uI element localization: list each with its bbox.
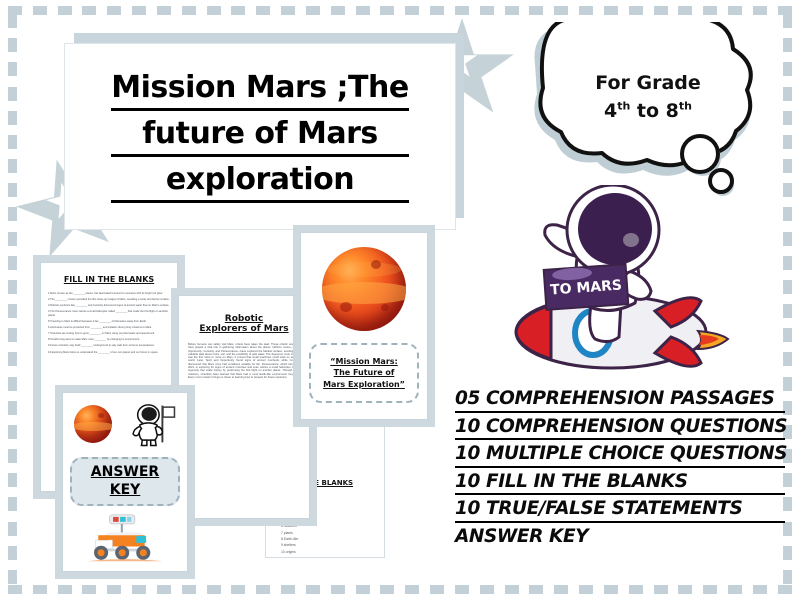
dash-segment bbox=[783, 570, 792, 584]
worksheet-robotic-explorers[interactable]: Robotic Explorers of Mars Before humans … bbox=[178, 295, 310, 519]
astronaut-flag-icon bbox=[130, 401, 176, 447]
dash-segment bbox=[82, 585, 96, 594]
grade-to: to 8 bbox=[630, 100, 679, 122]
worksheet-text-line: 5.Traveling to Mars is difficult because… bbox=[48, 320, 170, 323]
dash-segment bbox=[107, 585, 121, 594]
dash-segment bbox=[8, 62, 17, 76]
dash-segment bbox=[256, 6, 270, 15]
dash-segment bbox=[753, 585, 767, 594]
feature-list: 05 COMPREHENSION PASSAGES 10 COMPREHENSI… bbox=[455, 390, 785, 553]
dash-segment bbox=[8, 38, 17, 52]
dash-segment bbox=[654, 585, 668, 594]
dash-segment bbox=[480, 585, 494, 594]
dash-segment bbox=[8, 585, 22, 594]
dash-segment bbox=[8, 14, 17, 28]
dash-segment bbox=[783, 232, 792, 246]
dashed-border-top bbox=[8, 6, 792, 15]
mars-card-caption: “Mission Mars: The Future of Mars Explor… bbox=[309, 343, 419, 403]
dash-segment bbox=[306, 6, 320, 15]
page-title-line-3: exploration bbox=[111, 160, 408, 203]
mars-caption-line-2: The Future of bbox=[323, 367, 405, 379]
grade-line-2: 4th to 8th bbox=[573, 98, 723, 126]
dash-segment bbox=[554, 585, 568, 594]
dash-segment bbox=[8, 352, 17, 366]
answer-list-item: 10.origins bbox=[281, 549, 376, 555]
worksheet-text-line: 10.Exploring Mars helps us understand th… bbox=[48, 351, 170, 354]
dash-segment bbox=[8, 256, 17, 270]
dash-segment bbox=[182, 585, 196, 594]
feature-item-4: 10 TRUE/FALSE STATEMENTS bbox=[455, 500, 785, 523]
dash-segment bbox=[58, 6, 72, 15]
grade-line-1: For Grade bbox=[573, 70, 723, 98]
dash-segment bbox=[778, 585, 792, 594]
dash-segment bbox=[629, 6, 643, 15]
dash-segment bbox=[8, 570, 17, 584]
worksheet-text-line: 9.Future colonists may build ________ un… bbox=[48, 344, 170, 347]
dash-segment bbox=[207, 585, 221, 594]
dash-segment bbox=[58, 585, 72, 594]
dash-segment bbox=[783, 14, 792, 28]
dash-segment bbox=[579, 585, 593, 594]
dash-segment bbox=[8, 401, 17, 415]
dash-segment bbox=[8, 207, 17, 221]
answer-key-line-1: ANSWER bbox=[91, 464, 159, 482]
grade-to-suffix: th bbox=[679, 99, 692, 112]
dash-segment bbox=[8, 280, 17, 294]
title-frame: Mission Mars ;The future of Mars explora… bbox=[64, 43, 456, 230]
dash-segment bbox=[306, 585, 320, 594]
dash-segment bbox=[8, 473, 17, 487]
dash-segment bbox=[455, 585, 469, 594]
dash-segment bbox=[783, 256, 792, 270]
dash-segment bbox=[783, 280, 792, 294]
dash-segment bbox=[8, 111, 17, 125]
dash-segment bbox=[132, 585, 146, 594]
mars-planet-icon bbox=[322, 247, 406, 331]
dash-segment bbox=[8, 546, 17, 560]
astronaut-rocket-illustration: TO MARS bbox=[483, 185, 783, 400]
dash-segment bbox=[8, 304, 17, 318]
dash-segment bbox=[157, 585, 171, 594]
dash-segment bbox=[8, 183, 17, 197]
grade-range-text: For Grade 4th to 8th bbox=[573, 70, 723, 125]
grade-from-suffix: th bbox=[617, 99, 630, 112]
dash-segment bbox=[8, 87, 17, 101]
fill-blanks-heading: FILL IN THE BLANKS bbox=[48, 275, 170, 284]
worksheet-text-line: 6.Astronauts must be protected from ____… bbox=[48, 326, 170, 329]
dash-segment bbox=[33, 6, 47, 15]
dash-segment bbox=[8, 159, 17, 173]
robotic-body: Before humans can safely visit Mars, rob… bbox=[188, 343, 300, 379]
dash-segment bbox=[783, 377, 792, 391]
worksheet-text-line: 7.Scientists are testing how to grow ___… bbox=[48, 332, 170, 335]
worksheet-text-line: 1.Mars, known as the ________ planet, ha… bbox=[48, 292, 170, 295]
grade-thought-bubble: For Grade 4th to 8th bbox=[515, 22, 765, 197]
dash-segment bbox=[783, 328, 792, 342]
dash-segment bbox=[728, 6, 742, 15]
dash-segment bbox=[783, 183, 792, 197]
dash-segment bbox=[356, 585, 370, 594]
dash-segment bbox=[33, 585, 47, 594]
dash-segment bbox=[380, 6, 394, 15]
dash-segment bbox=[783, 352, 792, 366]
dash-segment bbox=[8, 522, 17, 536]
robotic-heading-line-2: Explorers of Mars bbox=[188, 324, 300, 334]
page-title: Mission Mars ;The future of Mars explora… bbox=[103, 68, 416, 206]
dash-segment bbox=[281, 6, 295, 15]
dash-segment bbox=[505, 6, 519, 15]
dash-segment bbox=[529, 6, 543, 15]
dash-segment bbox=[430, 585, 444, 594]
dash-segment bbox=[579, 6, 593, 15]
dashed-border-bottom bbox=[8, 585, 792, 594]
dash-segment bbox=[8, 328, 17, 342]
dash-segment bbox=[629, 585, 643, 594]
dash-segment bbox=[281, 585, 295, 594]
dash-segment bbox=[783, 159, 792, 173]
page-title-line-2: future of Mars bbox=[111, 114, 408, 157]
mars-planet-small-icon bbox=[74, 405, 112, 443]
dash-segment bbox=[331, 585, 345, 594]
dash-segment bbox=[678, 6, 692, 15]
worksheet-text-line: 8.Terraforming aims to make Mars more __… bbox=[48, 338, 170, 341]
robotic-heading-line-1: Robotic bbox=[188, 314, 300, 324]
dash-segment bbox=[455, 6, 469, 15]
dash-segment bbox=[182, 6, 196, 15]
dash-segment bbox=[430, 6, 444, 15]
dash-segment bbox=[231, 585, 245, 594]
dash-segment bbox=[654, 6, 668, 15]
worksheet-mars-title-card[interactable]: “Mission Mars: The Future of Mars Explor… bbox=[300, 232, 428, 420]
dash-segment bbox=[604, 6, 618, 15]
dash-segment bbox=[783, 304, 792, 318]
mars-caption-line-3: Mars Exploration” bbox=[323, 379, 405, 391]
dashed-border-left bbox=[8, 14, 17, 584]
answer-key-label: ANSWER KEY bbox=[70, 457, 180, 506]
dash-segment bbox=[380, 585, 394, 594]
dash-segment bbox=[529, 585, 543, 594]
dash-segment bbox=[157, 6, 171, 15]
grade-from: 4 bbox=[604, 100, 617, 122]
dash-segment bbox=[505, 585, 519, 594]
poster-canvas: Mission Mars ;The future of Mars explora… bbox=[0, 0, 800, 600]
feature-item-1: 10 COMPREHENSION QUESTIONS bbox=[455, 418, 785, 441]
dash-segment bbox=[783, 87, 792, 101]
dash-segment bbox=[8, 232, 17, 246]
answer-key-line-2: KEY bbox=[110, 482, 141, 500]
dash-segment bbox=[8, 449, 17, 463]
dash-segment bbox=[783, 111, 792, 125]
dash-segment bbox=[783, 135, 792, 149]
dash-segment bbox=[728, 585, 742, 594]
dash-segment bbox=[554, 6, 568, 15]
dash-segment bbox=[8, 135, 17, 149]
dash-segment bbox=[783, 207, 792, 221]
dash-segment bbox=[703, 6, 717, 15]
dash-segment bbox=[256, 585, 270, 594]
dash-segment bbox=[783, 62, 792, 76]
dash-segment bbox=[8, 497, 17, 511]
worksheet-text-line: 4.The Perseverance rover carries a small… bbox=[48, 310, 170, 316]
worksheet-answer-key-card[interactable]: ANSWER KEY bbox=[62, 392, 188, 572]
dash-segment bbox=[207, 6, 221, 15]
mars-rover-icon bbox=[77, 512, 173, 563]
dash-segment bbox=[480, 6, 494, 15]
dash-segment bbox=[405, 6, 419, 15]
dash-segment bbox=[8, 425, 17, 439]
fill-blanks-body: 1.Mars, known as the ________ planet, ha… bbox=[48, 292, 170, 354]
page-title-line-1: Mission Mars ;The bbox=[111, 68, 408, 111]
feature-item-0: 05 COMPREHENSION PASSAGES bbox=[455, 390, 785, 413]
worksheet-text-line: 2.The ________ mission provided the firs… bbox=[48, 298, 170, 301]
dash-segment bbox=[231, 6, 245, 15]
feature-item-3: 10 FILL IN THE BLANKS bbox=[455, 473, 785, 496]
dash-segment bbox=[107, 6, 121, 15]
dash-segment bbox=[703, 585, 717, 594]
feature-item-5: ANSWER KEY bbox=[455, 528, 785, 549]
dash-segment bbox=[8, 377, 17, 391]
feature-item-2: 10 MULTIPLE CHOICE QUESTIONS bbox=[455, 445, 785, 468]
mars-caption-line-1: “Mission Mars: bbox=[323, 356, 405, 368]
worksheet-text-line: 3.Robotic explorers like ________ and Cu… bbox=[48, 304, 170, 307]
dash-segment bbox=[783, 38, 792, 52]
to-mars-sign: TO MARS bbox=[544, 264, 629, 310]
dash-segment bbox=[331, 6, 345, 15]
worksheet-text-line: Before humans can safely visit Mars, rob… bbox=[188, 343, 300, 379]
dash-segment bbox=[356, 6, 370, 15]
dash-segment bbox=[132, 6, 146, 15]
dash-segment bbox=[82, 6, 96, 15]
dash-segment bbox=[753, 6, 767, 15]
dash-segment bbox=[405, 585, 419, 594]
dash-segment bbox=[604, 585, 618, 594]
dash-segment bbox=[678, 585, 692, 594]
